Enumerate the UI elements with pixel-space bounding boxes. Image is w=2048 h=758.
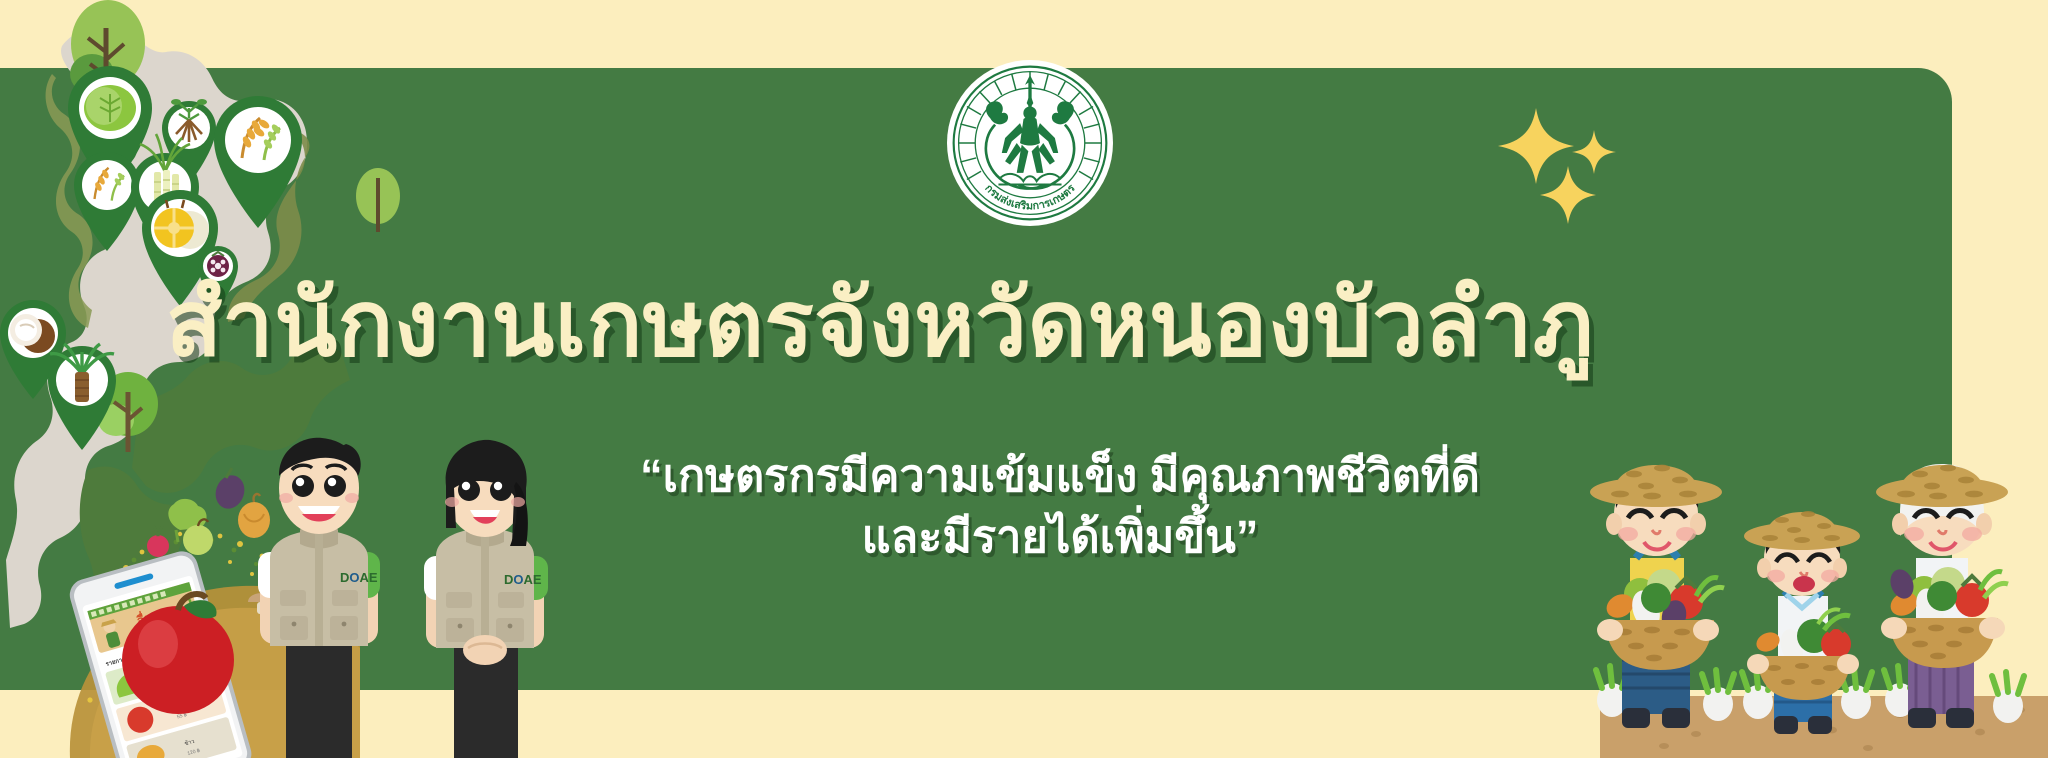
veg-radish-red [147, 526, 169, 557]
right-farmer-straw-hat [1876, 465, 2008, 507]
male-doae-badge: DOAE [340, 570, 378, 585]
farmers-svg [1600, 430, 2048, 758]
sparkle-large-icon [1498, 108, 1574, 184]
doae-emblem-svg: กรมส่งเสริมการเกษตร [947, 60, 1113, 226]
sparkles-svg [1490, 100, 1650, 230]
page-title: สำนักงานเกษตรจังหวัดหนองบัวลำภู [0, 276, 1760, 373]
female-extension-officer: DOAE [424, 440, 548, 758]
extension-officers: DOAE [230, 430, 590, 758]
sparkle-medium-icon [1572, 130, 1616, 174]
tree-icon-right [356, 168, 400, 232]
slogan-line-1: “เกษตรกรมีความเข้มแข็ง มีคุณภาพชีวิตที่ด… [560, 446, 1560, 507]
center-farmer-straw-hat [1744, 511, 1860, 550]
farmers-with-baskets [1600, 430, 2048, 758]
slogan: “เกษตรกรมีความเข้มแข็ง มีคุณภาพชีวิตที่ด… [560, 446, 1560, 568]
sparkle-small-icon [1540, 166, 1596, 224]
slogan-line-2: และมีรายได้เพิ่มขึ้น” [560, 507, 1560, 568]
left-farmer-straw-hat [1590, 465, 1722, 507]
female-doae-badge: DOAE [504, 572, 542, 587]
officers-svg: DOAE [230, 430, 590, 758]
female-clasped-hands [463, 635, 507, 665]
doae-emblem: กรมส่งเสริมการเกษตร [947, 60, 1113, 226]
banner-stage: อื่ม...นะ ตลาดเกษตรกรออนไลน์ รายการสินค้… [0, 0, 2048, 758]
male-trousers [286, 638, 352, 758]
male-extension-officer: DOAE [258, 438, 380, 758]
sparkle-decoration [1490, 100, 1650, 230]
